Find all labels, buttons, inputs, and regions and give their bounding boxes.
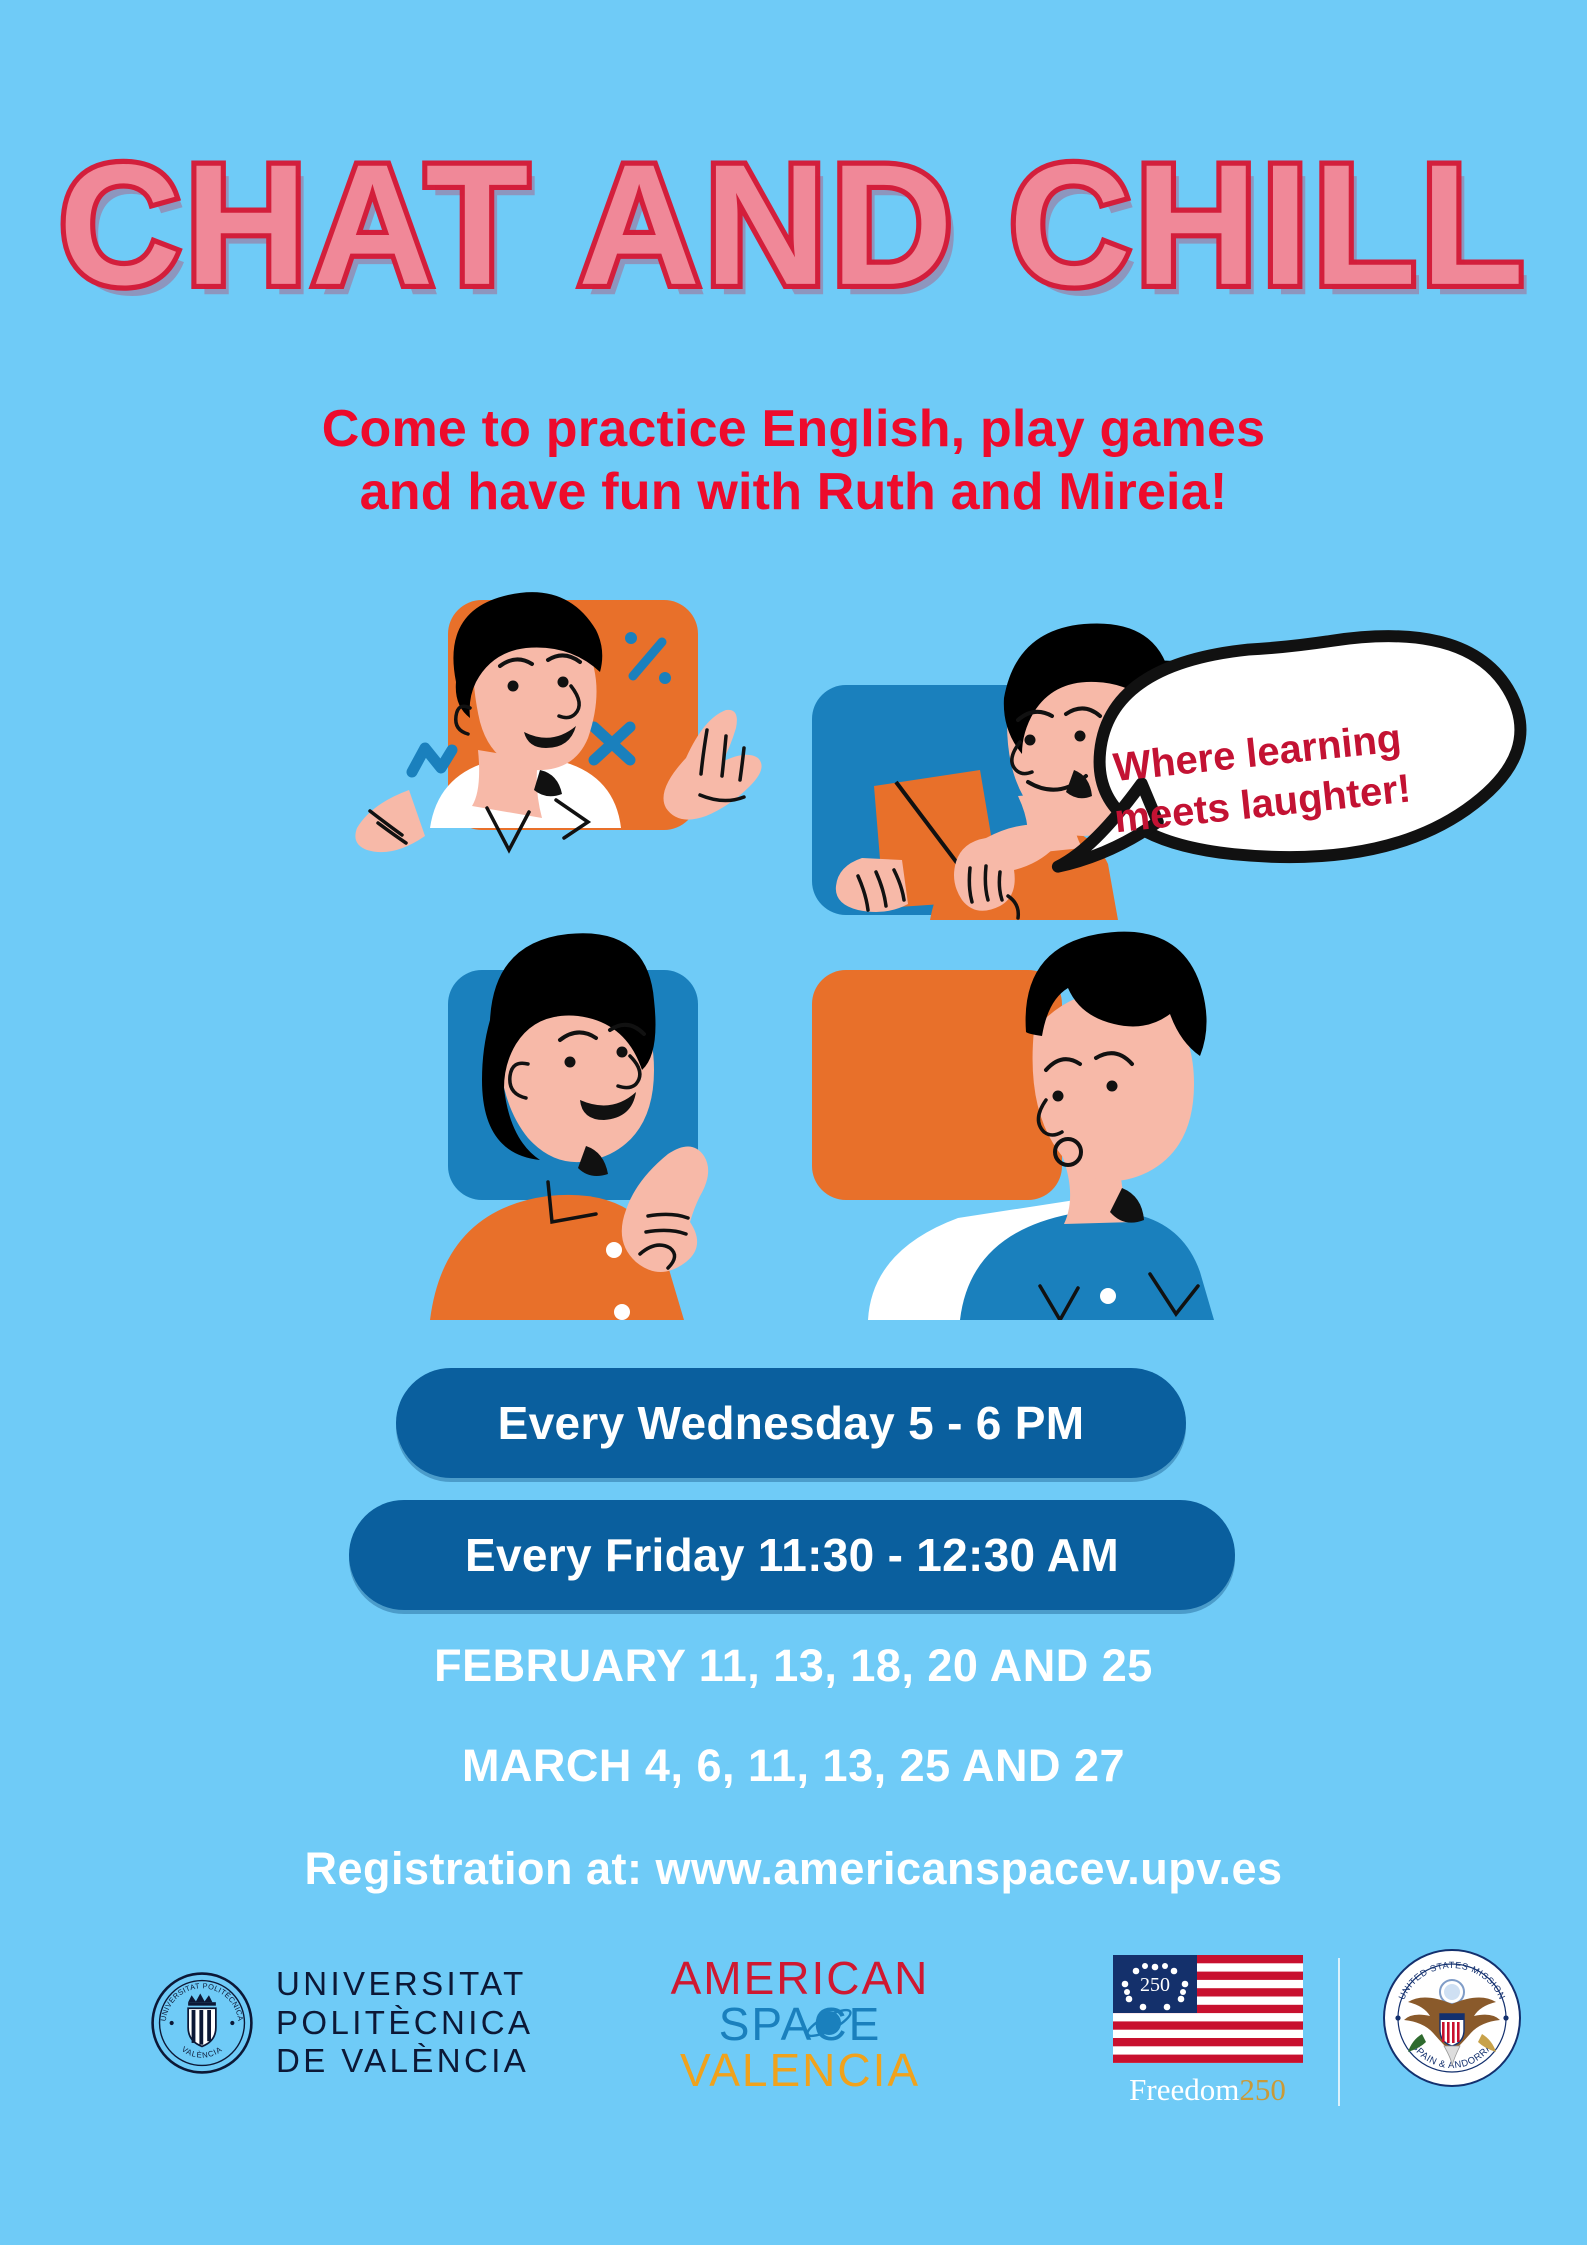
logo-upv: UNIVERSITAT POLITÈCNICA VALÈNCIA UNIVERS… [150, 1965, 533, 2081]
poster-root: CHAT AND CHILL Come to practice English,… [0, 0, 1587, 2245]
registration-line[interactable]: Registration at: www.americanspacev.upv.… [0, 1843, 1587, 1895]
panel-bottom-right [812, 970, 1062, 1200]
freedom-word: Freedom [1129, 2072, 1239, 2107]
subtitle-line-1: Come to practice English, play games [0, 398, 1587, 461]
upv-line-2: POLITÈCNICA [276, 2004, 533, 2043]
session-pill-friday: Every Friday 11:30 - 12:30 AM [349, 1500, 1235, 1610]
logo-american-space-valencia: AMERICAN SPACE VALENCIA [640, 1955, 960, 2093]
illustration-artwork: Where learning meets laughter! [0, 590, 1587, 1320]
upv-line-3: DE VALÈNCIA [276, 2042, 533, 2081]
freedom250-wordmark: Freedom250 [1105, 2072, 1310, 2108]
title-container: CHAT AND CHILL [0, 140, 1587, 288]
freedom-number: 250 [1239, 2072, 1286, 2107]
subtitle: Come to practice English, play games and… [0, 398, 1587, 525]
logo-us-mission: UNITED STATES MISSION SPAIN & ANDORRA [1382, 1948, 1522, 2088]
zigzag-doodle [412, 748, 452, 772]
upv-line-1: UNIVERSITAT [276, 1965, 533, 2004]
asv-line-valencia: VALENCIA [640, 2047, 960, 2093]
us-mission-seal-icon: UNITED STATES MISSION SPAIN & ANDORRA [1382, 1948, 1522, 2088]
page-title: CHAT AND CHILL [59, 140, 1529, 312]
planet-icon [803, 1997, 855, 2049]
dates-february: FEBRUARY 11, 13, 18, 20 AND 25 [0, 1640, 1587, 1692]
upv-seal-icon: UNIVERSITAT POLITÈCNICA VALÈNCIA [150, 1971, 254, 2075]
session-pill-wednesday: Every Wednesday 5 - 6 PM [396, 1368, 1186, 1478]
asv-line-space: SPACE [719, 2001, 882, 2047]
asv-line-american: AMERICAN [640, 1955, 960, 2001]
flag-badge-number: 250 [1140, 1974, 1170, 1996]
footer-divider [1338, 1958, 1340, 2106]
session-label-wednesday: Every Wednesday 5 - 6 PM [498, 1396, 1085, 1450]
logo-freedom-250: 250 Freedom250 [1105, 1955, 1310, 2108]
upv-wordmark: UNIVERSITAT POLITÈCNICA DE VALÈNCIA [276, 1965, 533, 2081]
dates-march: MARCH 4, 6, 11, 13, 25 AND 27 [0, 1740, 1587, 1792]
subtitle-line-2: and have fun with Ruth and Mireia! [0, 461, 1587, 524]
figure-top-left [355, 592, 761, 852]
betsy-ross-flag-icon: 250 [1113, 1955, 1303, 2063]
session-label-friday: Every Friday 11:30 - 12:30 AM [465, 1528, 1119, 1582]
asv-line-space-wrap: SPACE [640, 2001, 960, 2047]
